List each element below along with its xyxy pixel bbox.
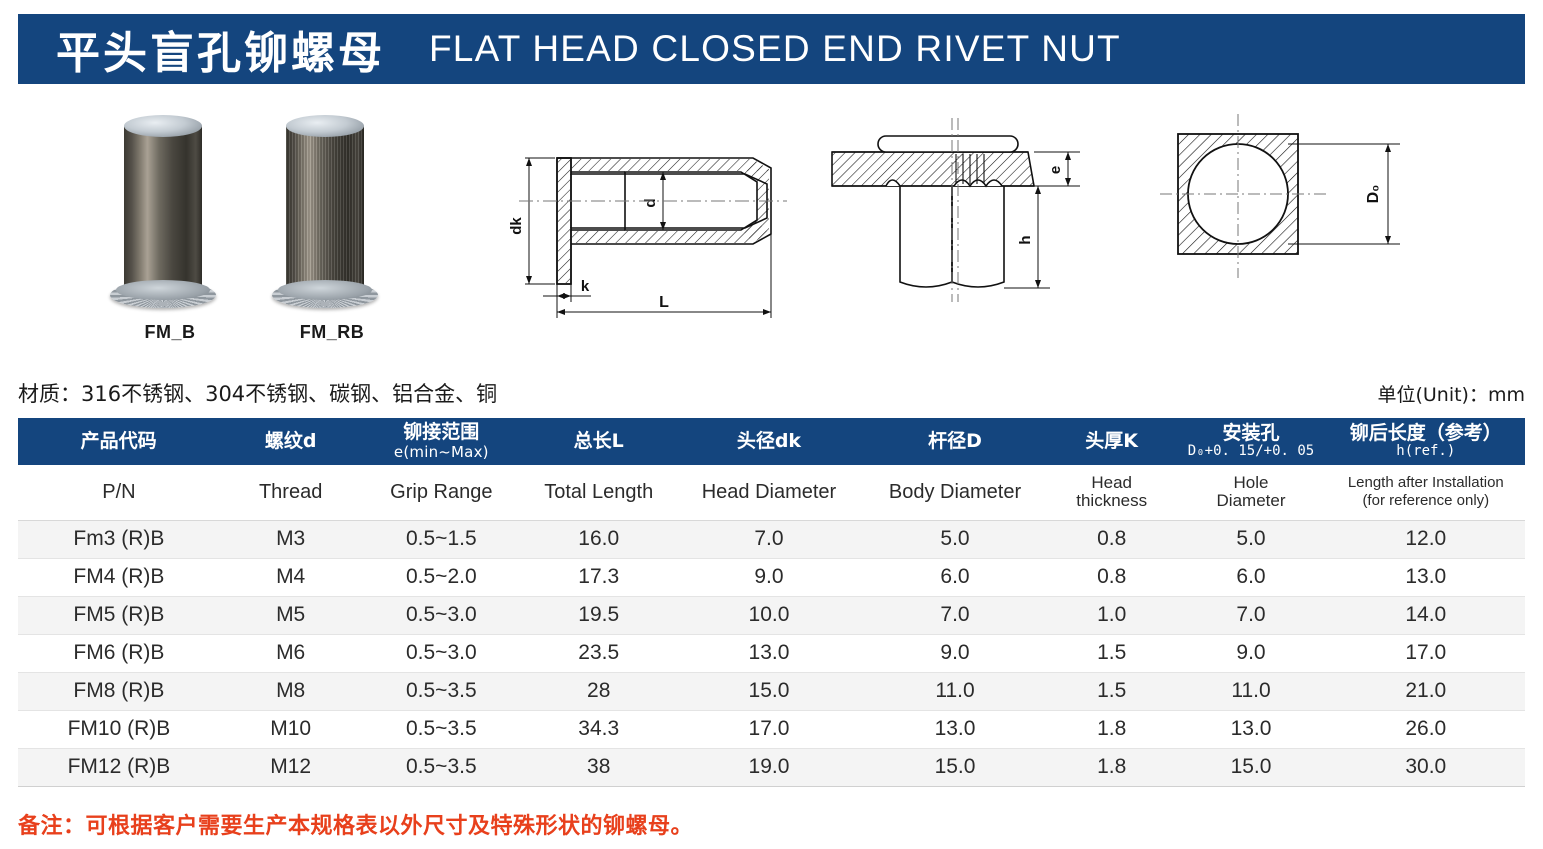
header-en-length-after-installation: Length after Installation (for reference… <box>1327 465 1524 520</box>
cell-thread: M5 <box>220 596 362 634</box>
cell-body-dia: 11.0 <box>862 672 1049 710</box>
table-row: FM8 (R)B M8 0.5~3.5 28 15.0 11.0 1.5 11.… <box>18 672 1525 710</box>
specification-table: 产品代码 螺纹d 铆接范围 e(min~Max) 总长L 头径dk 杆径D <box>18 418 1525 787</box>
drawing-hole-section: D₀ <box>1160 106 1430 306</box>
cell-grip: 0.5~1.5 <box>361 520 521 558</box>
material-note: 材质：316不锈钢、304不锈钢、碳钢、铝合金、铜 <box>18 378 497 408</box>
header-cn-head-thickness: 头厚K <box>1048 418 1175 465</box>
header-en-body-diameter: Body Diameter <box>862 465 1049 520</box>
cell-grip: 0.5~3.5 <box>361 748 521 786</box>
dim-label-D0: D₀ <box>1365 185 1382 204</box>
rivet-nut-flange-face <box>278 280 372 300</box>
cell-grip: 0.5~3.5 <box>361 672 521 710</box>
header-cn-length-after-installation: 铆后长度（参考） h(ref.) <box>1327 418 1524 465</box>
cell-pn: FM5 (R)B <box>18 596 220 634</box>
cell-head-thk: 1.5 <box>1048 672 1175 710</box>
table-row: FM10 (R)B M10 0.5~3.5 34.3 17.0 13.0 1.8… <box>18 710 1525 748</box>
table-row: FM5 (R)B M5 0.5~3.0 19.5 10.0 7.0 1.0 7.… <box>18 596 1525 634</box>
cell-pn: FM8 (R)B <box>18 672 220 710</box>
cell-hole-dia: 9.0 <box>1175 634 1327 672</box>
header-cn-head-diameter: 头径dk <box>676 418 861 465</box>
cell-length: 19.5 <box>521 596 676 634</box>
cell-pn: FM6 (R)B <box>18 634 220 672</box>
dim-label-e: e <box>1047 166 1064 174</box>
dim-label-d: d <box>642 198 659 207</box>
title-banner: 平头盲孔铆螺母 FLAT HEAD CLOSED END RIVET NUT <box>18 14 1525 84</box>
cell-length: 16.0 <box>521 520 676 558</box>
cell-head-thk: 0.8 <box>1048 558 1175 596</box>
rivet-nut-closed-end <box>286 115 364 137</box>
cell-grip: 0.5~2.0 <box>361 558 521 596</box>
cell-body-dia: 7.0 <box>862 596 1049 634</box>
unit-note: 单位(Unit)：mm <box>1377 380 1525 407</box>
cell-body-dia: 6.0 <box>862 558 1049 596</box>
cell-h-ref: 21.0 <box>1327 672 1524 710</box>
rivet-nut-flange-face <box>116 280 210 300</box>
cell-head-dia: 15.0 <box>676 672 861 710</box>
cell-h-ref: 12.0 <box>1327 520 1524 558</box>
cell-head-thk: 0.8 <box>1048 520 1175 558</box>
header-en-head-thickness: Head thickness <box>1048 465 1175 520</box>
cell-pn: FM4 (R)B <box>18 558 220 596</box>
cell-grip: 0.5~3.5 <box>361 710 521 748</box>
header-cn-thread: 螺纹d <box>220 418 362 465</box>
cell-thread: M8 <box>220 672 362 710</box>
cell-hole-dia: 6.0 <box>1175 558 1327 596</box>
cell-body-dia: 9.0 <box>862 634 1049 672</box>
cell-length: 23.5 <box>521 634 676 672</box>
cell-grip: 0.5~3.0 <box>361 596 521 634</box>
header-cn-grip-range: 铆接范围 e(min~Max) <box>361 418 521 465</box>
header-en-grip-range: Grip Range <box>361 465 521 520</box>
spec-sheet-page: 平头盲孔铆螺母 FLAT HEAD CLOSED END RIVET NUT F… <box>0 0 1543 849</box>
table-header-row-english: P/N Thread Grip Range Total Length Head … <box>18 465 1525 520</box>
header-en-thread: Thread <box>220 465 362 520</box>
header-cn-hole-diameter: 安装孔 D₀+0. 15/+0. 05 <box>1175 418 1327 465</box>
header-en-total-length: Total Length <box>521 465 676 520</box>
table-row: FM12 (R)B M12 0.5~3.5 38 19.0 15.0 1.8 1… <box>18 748 1525 786</box>
dim-label-dk: dk <box>508 217 525 235</box>
cell-head-dia: 19.0 <box>676 748 861 786</box>
product-photo-fm-b: FM_B <box>110 114 230 314</box>
cell-hole-dia: 11.0 <box>1175 672 1327 710</box>
cell-body-dia: 13.0 <box>862 710 1049 748</box>
table-header-row-chinese: 产品代码 螺纹d 铆接范围 e(min~Max) 总长L 头径dk 杆径D <box>18 418 1525 465</box>
cell-grip: 0.5~3.0 <box>361 634 521 672</box>
dim-label-h: h <box>1017 235 1034 244</box>
cell-head-dia: 7.0 <box>676 520 861 558</box>
cell-length: 28 <box>521 672 676 710</box>
cell-thread: M12 <box>220 748 362 786</box>
rivet-nut-body-smooth <box>124 124 202 292</box>
header-cn-pn: 产品代码 <box>18 418 220 465</box>
product-photo-fm-rb: FM_RB <box>272 114 392 314</box>
photo-label-fm-b: FM_B <box>110 322 230 343</box>
cell-h-ref: 17.0 <box>1327 634 1524 672</box>
cell-h-ref: 30.0 <box>1327 748 1524 786</box>
header-cn-total-length: 总长L <box>521 418 676 465</box>
banner-title-english: FLAT HEAD CLOSED END RIVET NUT <box>429 28 1121 70</box>
cell-head-dia: 10.0 <box>676 596 861 634</box>
cell-length: 34.3 <box>521 710 676 748</box>
figures-strip: FM_B FM_RB <box>0 96 1543 371</box>
table-row: FM4 (R)B M4 0.5~2.0 17.3 9.0 6.0 0.8 6.0… <box>18 558 1525 596</box>
cell-head-thk: 1.8 <box>1048 710 1175 748</box>
remark-note: 备注：可根据客户需要生产本规格表以外尺寸及特殊形状的铆螺母。 <box>18 808 693 840</box>
cell-pn: Fm3 (R)B <box>18 520 220 558</box>
cell-length: 17.3 <box>521 558 676 596</box>
cell-head-dia: 9.0 <box>676 558 861 596</box>
photo-label-fm-rb: FM_RB <box>272 322 392 343</box>
table-body: Fm3 (R)B M3 0.5~1.5 16.0 7.0 5.0 0.8 5.0… <box>18 520 1525 786</box>
header-en-head-diameter: Head Diameter <box>676 465 861 520</box>
header-en-pn: P/N <box>18 465 220 520</box>
drawing-cross-section: dk d k L <box>495 106 815 321</box>
header-en-hole-diameter: Hole Diameter <box>1175 465 1327 520</box>
cell-head-dia: 17.0 <box>676 710 861 748</box>
cell-head-thk: 1.8 <box>1048 748 1175 786</box>
cell-pn: FM10 (R)B <box>18 710 220 748</box>
drawing-installed-section: e h <box>822 106 1122 321</box>
rivet-nut-body-knurled <box>286 124 364 292</box>
cell-h-ref: 13.0 <box>1327 558 1524 596</box>
cell-thread: M10 <box>220 710 362 748</box>
cell-h-ref: 26.0 <box>1327 710 1524 748</box>
cell-hole-dia: 7.0 <box>1175 596 1327 634</box>
cell-h-ref: 14.0 <box>1327 596 1524 634</box>
cell-length: 38 <box>521 748 676 786</box>
cell-head-thk: 1.0 <box>1048 596 1175 634</box>
product-photos: FM_B FM_RB <box>100 114 420 364</box>
dim-label-k: k <box>581 278 590 295</box>
cell-thread: M6 <box>220 634 362 672</box>
table-row: FM6 (R)B M6 0.5~3.0 23.5 13.0 9.0 1.5 9.… <box>18 634 1525 672</box>
header-cn-body-diameter: 杆径D <box>862 418 1049 465</box>
cell-thread: M4 <box>220 558 362 596</box>
cell-hole-dia: 15.0 <box>1175 748 1327 786</box>
dim-label-L: L <box>659 294 669 311</box>
cell-hole-dia: 5.0 <box>1175 520 1327 558</box>
cell-body-dia: 5.0 <box>862 520 1049 558</box>
banner-title-chinese: 平头盲孔铆螺母 <box>56 17 385 81</box>
cell-body-dia: 15.0 <box>862 748 1049 786</box>
cell-thread: M3 <box>220 520 362 558</box>
rivet-nut-closed-end <box>124 115 202 137</box>
cell-head-dia: 13.0 <box>676 634 861 672</box>
cell-hole-dia: 13.0 <box>1175 710 1327 748</box>
cell-pn: FM12 (R)B <box>18 748 220 786</box>
cell-head-thk: 1.5 <box>1048 634 1175 672</box>
table-row: Fm3 (R)B M3 0.5~1.5 16.0 7.0 5.0 0.8 5.0… <box>18 520 1525 558</box>
